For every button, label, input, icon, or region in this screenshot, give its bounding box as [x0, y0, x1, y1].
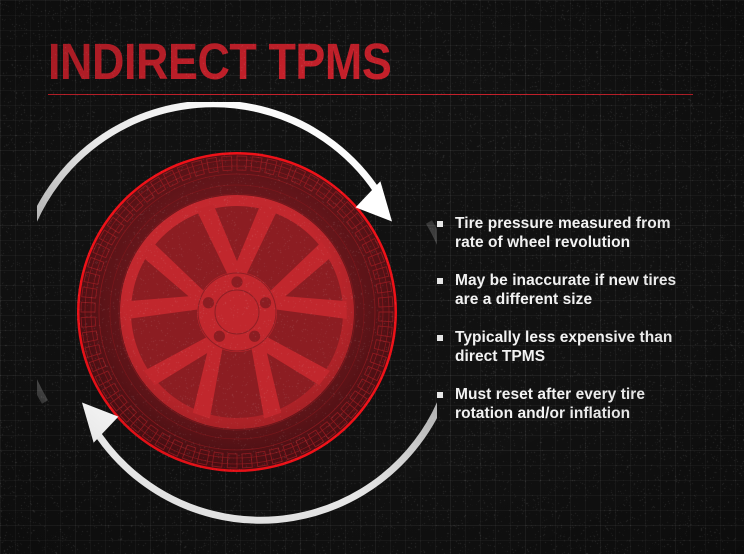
wheel-hub — [197, 272, 277, 352]
title-underline-rule — [48, 94, 693, 95]
wheel-lug-hole — [214, 331, 225, 342]
bullet-text: Must reset after every tire rotation and… — [455, 385, 697, 423]
bullet-square-icon — [437, 392, 443, 398]
wheel-graphic — [37, 102, 437, 532]
bullet-square-icon — [437, 278, 443, 284]
slide-indirect-tpms: INDIRECT TPMS Tire pressure measured fro… — [0, 0, 744, 554]
bullet-item: Must reset after every tire rotation and… — [437, 385, 697, 423]
page-title: INDIRECT TPMS — [48, 36, 620, 88]
bullet-square-icon — [437, 221, 443, 227]
bullet-item: May be inaccurate if new tires are a dif… — [437, 271, 697, 309]
bullet-item: Tire pressure measured from rate of whee… — [437, 214, 697, 252]
bullet-item: Typically less expensive than direct TPM… — [437, 328, 697, 366]
bullet-square-icon — [437, 335, 443, 341]
wheel-lug-hole — [203, 297, 214, 308]
title-block: INDIRECT TPMS — [48, 36, 698, 88]
wheel-lug-hole — [260, 297, 271, 308]
bullet-text: May be inaccurate if new tires are a dif… — [455, 271, 697, 309]
wheel-lug-hole — [249, 331, 260, 342]
wheel-lug-hole — [231, 276, 242, 287]
bullet-list: Tire pressure measured from rate of whee… — [437, 214, 697, 442]
bullet-text: Typically less expensive than direct TPM… — [455, 328, 697, 366]
bullet-text: Tire pressure measured from rate of whee… — [455, 214, 697, 252]
